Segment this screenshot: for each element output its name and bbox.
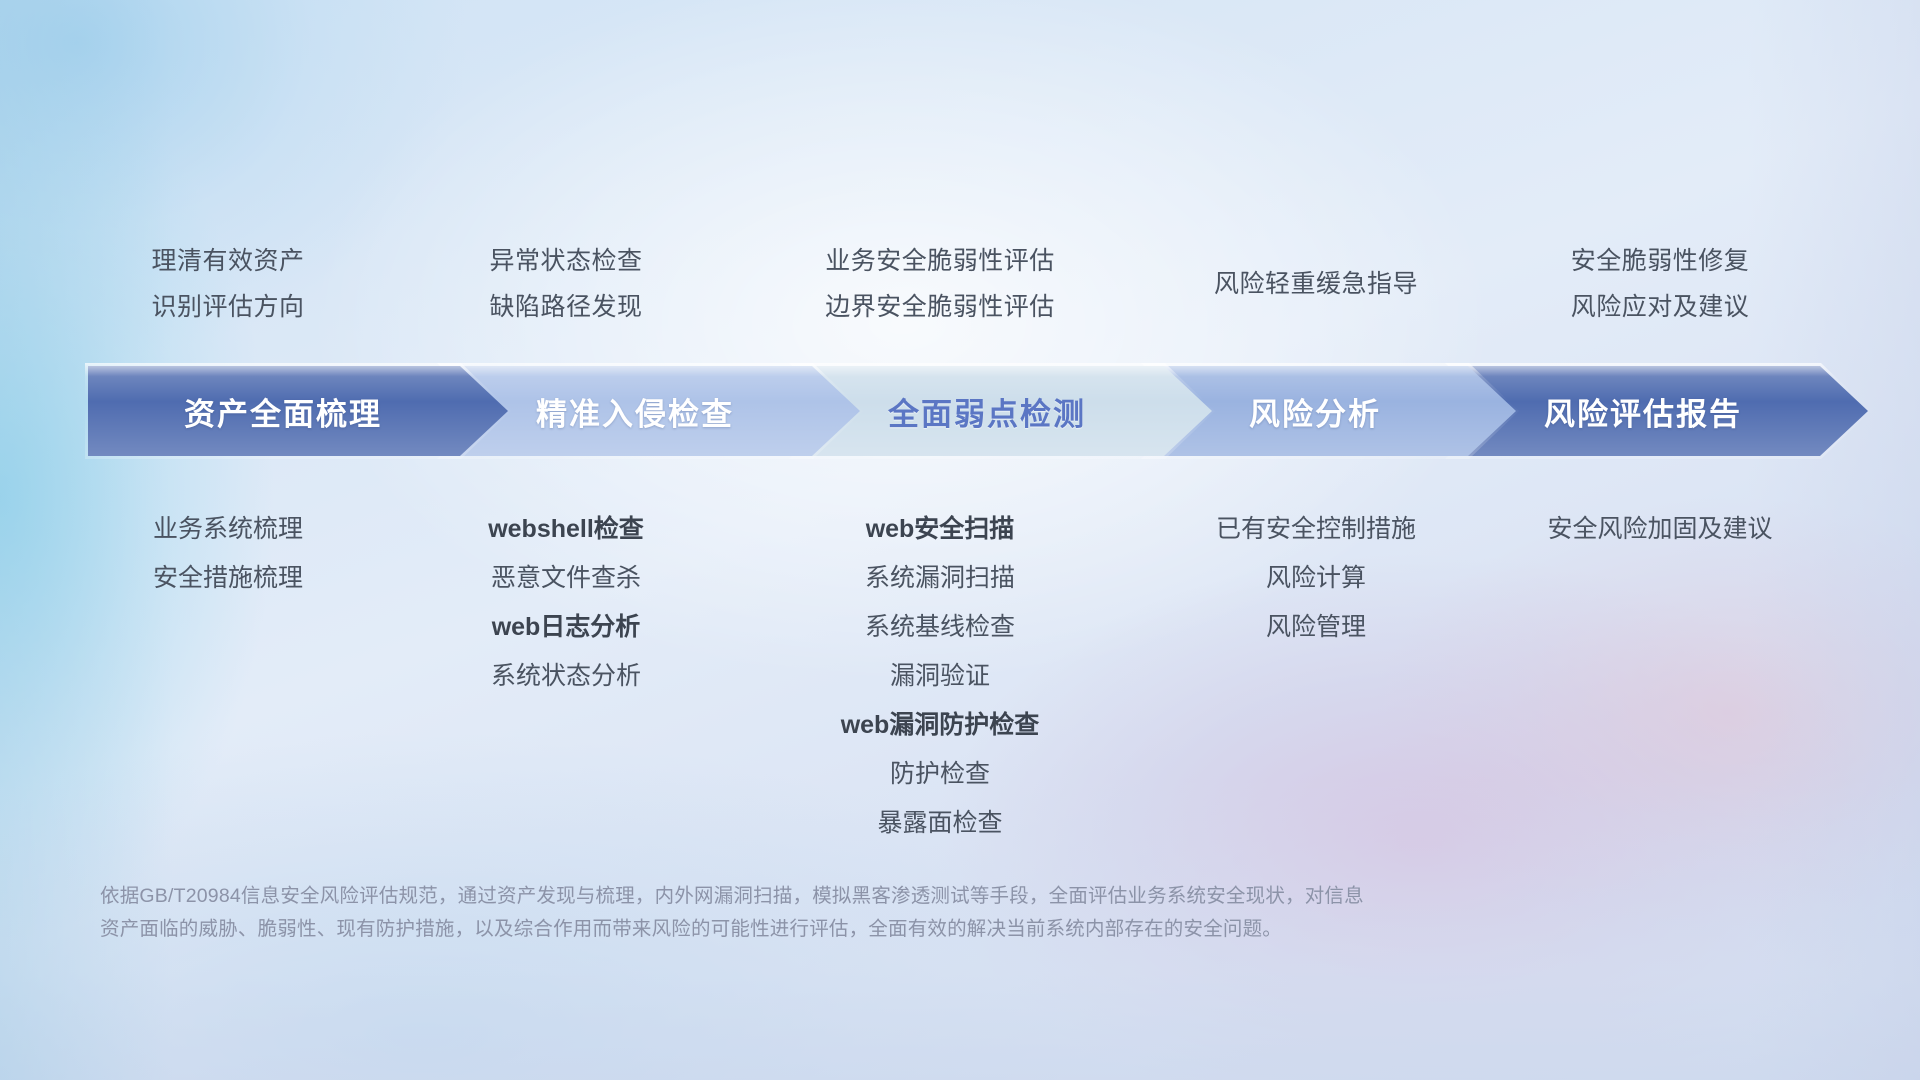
bottom-list-item: 系统状态分析 [381, 652, 751, 701]
chevron-stage-asset-inventory[interactable]: 资产全面梳理 [88, 366, 508, 456]
top-label-item: 业务安全脆弱性评估 [770, 238, 1110, 284]
chevron-label: 全面弱点检测 [888, 389, 1086, 434]
bottom-list-item: web安全扫描 [755, 505, 1125, 554]
bottom-list-item: 防护检查 [755, 750, 1125, 799]
top-label-group-risk-analysis: 风险轻重缓急指导 [1146, 261, 1486, 307]
bottom-list-item: 暴露面检查 [755, 799, 1125, 848]
top-label-row: 理清有效资产识别评估方向异常状态检查缺陷路径发现业务安全脆弱性评估边界安全脆弱性… [88, 238, 1848, 334]
bottom-list-item: webshell检查 [381, 505, 751, 554]
bottom-list-item: 安全风险加固及建议 [1475, 505, 1845, 554]
top-label-item: 缺陷路径发现 [396, 284, 736, 330]
top-label-item: 安全脆弱性修复 [1490, 238, 1830, 284]
bottom-list-item: 风险计算 [1131, 554, 1501, 603]
bottom-list-item: web日志分析 [381, 603, 751, 652]
bottom-list-item: 系统漏洞扫描 [755, 554, 1125, 603]
chevron-process-band: 资产全面梳理精准入侵检查全面弱点检测风险分析风险评估报告 [0, 366, 1920, 458]
bottom-list-group-asset-inventory: 业务系统梳理安全措施梳理 [43, 505, 413, 603]
bottom-list-item: web漏洞防护检查 [755, 701, 1125, 750]
bottom-list-item: 风险管理 [1131, 603, 1501, 652]
chevron-label: 资产全面梳理 [184, 389, 382, 434]
top-label-item: 异常状态检查 [396, 238, 736, 284]
top-label-group-weakness-detection: 业务安全脆弱性评估边界安全脆弱性评估 [770, 238, 1110, 330]
bottom-list-group-weakness-detection: web安全扫描系统漏洞扫描系统基线检查漏洞验证web漏洞防护检查防护检查暴露面检… [755, 505, 1125, 848]
bottom-list-item: 漏洞验证 [755, 652, 1125, 701]
top-label-item: 识别评估方向 [58, 284, 398, 330]
top-label-item: 风险应对及建议 [1490, 284, 1830, 330]
chevron-label: 精准入侵检查 [536, 389, 734, 434]
bottom-list-group-intrusion-check: webshell检查恶意文件查杀web日志分析系统状态分析 [381, 505, 751, 701]
bottom-list-group-risk-analysis: 已有安全控制措施风险计算风险管理 [1131, 505, 1501, 652]
footer-line-1: 依据GB/T20984信息安全风险评估规范，通过资产发现与梳理，内外网漏洞扫描，… [100, 880, 1740, 913]
bottom-list-item: 安全措施梳理 [43, 554, 413, 603]
top-label-group-intrusion-check: 异常状态检查缺陷路径发现 [396, 238, 736, 330]
process-diagram: 理清有效资产识别评估方向异常状态检查缺陷路径发现业务安全脆弱性评估边界安全脆弱性… [0, 0, 1920, 1080]
top-label-item: 理清有效资产 [58, 238, 398, 284]
footer-description: 依据GB/T20984信息安全风险评估规范，通过资产发现与梳理，内外网漏洞扫描，… [100, 880, 1740, 946]
chevron-label: 风险评估报告 [1544, 389, 1742, 434]
footer-line-2: 资产面临的威胁、脆弱性、现有防护措施，以及综合作用而带来风险的可能性进行评估，全… [100, 913, 1740, 946]
top-label-item: 边界安全脆弱性评估 [770, 284, 1110, 330]
bottom-list-item: 业务系统梳理 [43, 505, 413, 554]
bottom-list-item: 恶意文件查杀 [381, 554, 751, 603]
top-label-group-asset-inventory: 理清有效资产识别评估方向 [58, 238, 398, 330]
top-label-item: 风险轻重缓急指导 [1146, 261, 1486, 307]
bottom-list-item: 已有安全控制措施 [1131, 505, 1501, 554]
bottom-list-item: 系统基线检查 [755, 603, 1125, 652]
chevron-label: 风险分析 [1249, 389, 1381, 434]
top-label-group-risk-report: 安全脆弱性修复风险应对及建议 [1490, 238, 1830, 330]
bottom-list-group-risk-report: 安全风险加固及建议 [1475, 505, 1845, 554]
